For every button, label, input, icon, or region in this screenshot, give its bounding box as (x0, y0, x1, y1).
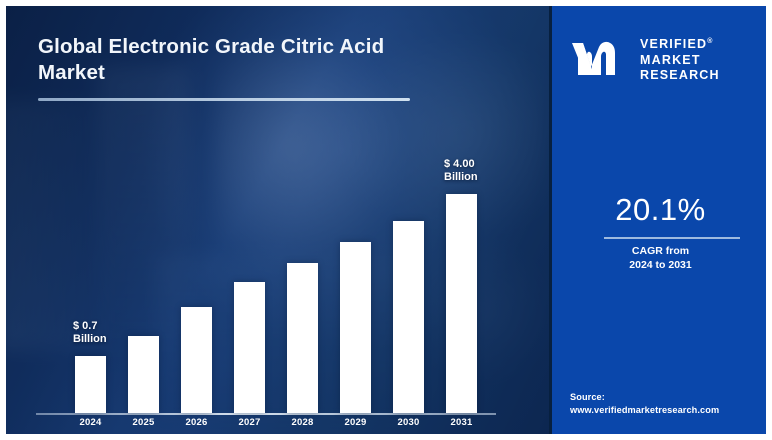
source-url[interactable]: www.verifiedmarketresearch.com (570, 404, 766, 417)
bar-2030 (393, 221, 424, 413)
value-label-amount: $ 4.00 (444, 158, 478, 171)
bar-2026 (181, 307, 212, 413)
brand-name-line3: RESEARCH (640, 68, 720, 84)
brand-panel: VERIFIED® MARKET RESEARCH 20.1% CAGR fro… (549, 6, 766, 434)
cagr-caption-line1: CAGR from (552, 244, 766, 258)
registered-mark-icon: ® (707, 38, 712, 45)
source-block: Source: www.verifiedmarketresearch.com (570, 391, 766, 417)
bar-2031 (446, 194, 477, 413)
x-tick-label-2028: 2028 (277, 417, 328, 428)
source-label: Source: (570, 391, 766, 404)
x-tick-label-2024: 2024 (65, 417, 116, 428)
vmr-logo-mark-icon (570, 40, 632, 78)
x-tick-label-2029: 2029 (330, 417, 381, 428)
x-tick-label-2027: 2027 (224, 417, 275, 428)
cagr-caption-line2: 2024 to 2031 (552, 258, 766, 272)
bar-2024 (75, 356, 106, 413)
value-label-2031: $ 4.00Billion (444, 158, 478, 185)
x-axis-line (36, 413, 496, 415)
value-label-unit: Billion (444, 171, 478, 184)
x-tick-label-2026: 2026 (171, 417, 222, 428)
value-label-amount: $ 0.7 (73, 320, 107, 333)
x-tick-label-2025: 2025 (118, 417, 169, 428)
brand-wordmark: VERIFIED® MARKET RESEARCH (640, 37, 720, 84)
cagr-value: 20.1% (552, 192, 766, 228)
value-label-2024: $ 0.7Billion (73, 320, 107, 347)
bar-2027 (234, 282, 265, 413)
cagr-caption: CAGR from 2024 to 2031 (552, 244, 766, 273)
x-tick-label-2031: 2031 (436, 417, 487, 428)
cagr-divider (604, 237, 740, 239)
bar-2029 (340, 242, 371, 413)
bar-2028 (287, 263, 318, 413)
bar-chart-plot: 20242025202620272028202920302031$ 0.7Bil… (6, 6, 549, 434)
infographic-card: Global Electronic Grade Citric Acid Mark… (6, 6, 766, 434)
brand-name-line1: VERIFIED (640, 37, 707, 51)
value-label-unit: Billion (73, 333, 107, 346)
brand-logo: VERIFIED® MARKET RESEARCH (570, 34, 760, 86)
chart-panel: Global Electronic Grade Citric Acid Mark… (6, 6, 549, 434)
brand-name-line2: MARKET (640, 53, 720, 69)
bar-2025 (128, 336, 159, 413)
x-tick-label-2030: 2030 (383, 417, 434, 428)
